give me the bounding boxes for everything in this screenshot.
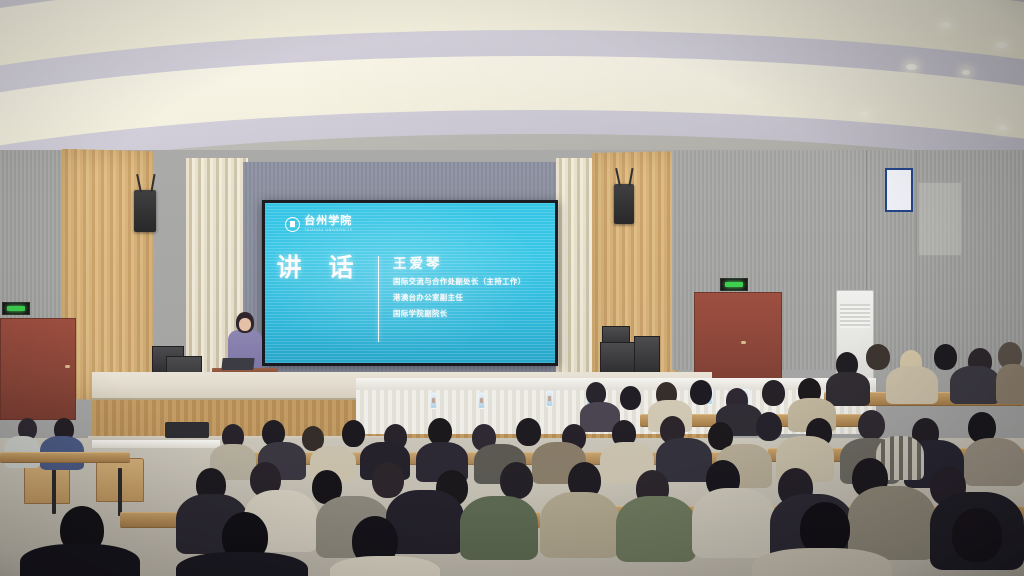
wall-seam — [916, 150, 917, 360]
floor-speaker-right — [600, 342, 636, 374]
audience-body — [848, 486, 936, 560]
water-bottle — [546, 390, 553, 407]
audience-body — [540, 492, 620, 558]
audience-head — [516, 418, 541, 446]
audience-body-foreground — [20, 544, 140, 576]
exit-door-left[interactable] — [0, 318, 76, 420]
audience-head — [866, 344, 890, 370]
water-bottle — [478, 392, 485, 409]
water-bottle — [430, 392, 437, 409]
audience-body — [616, 496, 696, 562]
audience-body — [692, 488, 776, 558]
audience-body-foreground — [330, 556, 440, 576]
audience-head — [858, 410, 885, 440]
exit-sign-right — [720, 278, 748, 291]
audience-body-foreground — [752, 548, 892, 576]
audience-head — [428, 418, 452, 445]
audience-body — [460, 496, 538, 560]
audience-body — [826, 372, 870, 406]
audience-head — [372, 462, 404, 498]
screen-glare — [265, 203, 555, 363]
audience-head — [690, 380, 712, 405]
wall-access-panel — [918, 182, 962, 256]
audience-head — [762, 380, 785, 406]
audience-head — [620, 386, 641, 410]
auditorium-photo: 台州学院 TAIZHOU UNIVERSITY 讲 话 王爱琴 国际交流与合作处… — [0, 0, 1024, 576]
speaker-face — [239, 318, 251, 331]
floor-speaker-right — [634, 336, 660, 374]
wall-speaker-right — [614, 184, 634, 224]
stage-curtain-right — [556, 158, 596, 382]
exit-sign-left — [2, 302, 30, 315]
audience-body — [950, 366, 1000, 404]
notice-poster — [885, 168, 913, 212]
projection-screen: 台州学院 TAIZHOU UNIVERSITY 讲 话 王爱琴 国际交流与合作处… — [262, 200, 558, 366]
audience-body — [996, 364, 1024, 404]
audience-head — [342, 420, 365, 447]
slide-surface: 台州学院 TAIZHOU UNIVERSITY 讲 话 王爱琴 国际交流与合作处… — [265, 203, 555, 363]
stage-equipment — [165, 422, 209, 438]
audience-body — [886, 366, 938, 404]
audience-head — [756, 412, 782, 441]
audience-head-foreground — [952, 508, 1002, 562]
wall-speaker-left — [134, 190, 156, 232]
seat-row[interactable] — [0, 452, 130, 463]
side-desk — [92, 440, 220, 448]
audience-head — [500, 462, 533, 499]
podium-laptop — [221, 358, 254, 370]
audience-body-foreground — [176, 552, 308, 576]
seat-frame — [52, 468, 56, 514]
audience-body — [964, 438, 1024, 486]
seat-frame — [118, 468, 122, 516]
audience-head — [934, 344, 957, 370]
